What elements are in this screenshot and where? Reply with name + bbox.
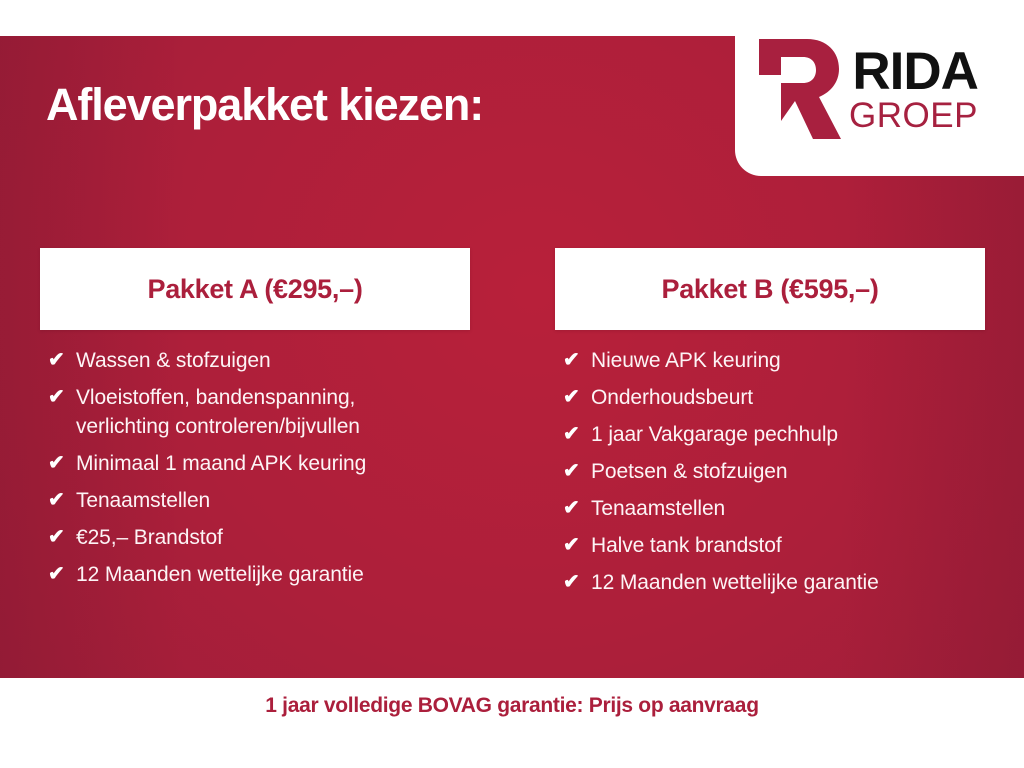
list-item: ✔ Wassen & stofzuigen: [46, 346, 470, 375]
check-icon: ✔: [46, 383, 76, 412]
list-item-label: 1 jaar Vakgarage pechhulp: [591, 420, 838, 449]
check-icon: ✔: [561, 420, 591, 449]
list-item: ✔ Minimaal 1 maand APK keuring: [46, 449, 470, 478]
package-b-feature-list: ✔ Nieuwe APK keuring ✔ Onderhoudsbeurt ✔…: [555, 330, 985, 597]
check-icon: ✔: [561, 531, 591, 560]
check-icon: ✔: [46, 560, 76, 589]
brand-logo-panel: RIDA GROEP: [735, 0, 1024, 176]
footer-banner: 1 jaar volledige BOVAG garantie: Prijs o…: [0, 678, 1024, 768]
list-item-label: Onderhoudsbeurt: [591, 383, 753, 412]
package-a-feature-list: ✔ Wassen & stofzuigen ✔ Vloeistoffen, ba…: [40, 330, 470, 589]
list-item: ✔ Vloeistoffen, bandenspanning, verlicht…: [46, 383, 470, 441]
package-card-a[interactable]: Pakket A (€295,–) ✔ Wassen & stofzuigen …: [40, 248, 470, 605]
package-card-b[interactable]: Pakket B (€595,–) ✔ Nieuwe APK keuring ✔…: [555, 248, 985, 605]
brand-name-secondary: GROEP: [849, 100, 978, 132]
list-item: ✔ Poetsen & stofzuigen: [561, 457, 985, 486]
check-icon: ✔: [561, 457, 591, 486]
list-item: ✔ Tenaamstellen: [46, 486, 470, 515]
list-item-label: Tenaamstellen: [76, 486, 210, 515]
check-icon: ✔: [46, 523, 76, 552]
check-icon: ✔: [561, 383, 591, 412]
list-item: ✔ 1 jaar Vakgarage pechhulp: [561, 420, 985, 449]
check-icon: ✔: [46, 449, 76, 478]
brand-wordmark: RIDA GROEP: [849, 48, 978, 132]
package-b-title: Pakket B (€595,–): [661, 274, 878, 305]
list-item-label: Tenaamstellen: [591, 494, 725, 523]
check-icon: ✔: [46, 346, 76, 375]
list-item: ✔ Halve tank brandstof: [561, 531, 985, 560]
list-item-label: Minimaal 1 maand APK keuring: [76, 449, 366, 478]
list-item-label-line: Vloeistoffen, bandenspanning,: [76, 383, 360, 412]
check-icon: ✔: [561, 346, 591, 375]
package-b-header: Pakket B (€595,–): [555, 248, 985, 330]
rida-r-monogram-icon: [751, 35, 843, 143]
package-a-header: Pakket A (€295,–): [40, 248, 470, 330]
page-title: Afleverpakket kiezen:: [46, 79, 483, 131]
packages-container: Pakket A (€295,–) ✔ Wassen & stofzuigen …: [0, 248, 1024, 605]
list-item-label: €25,– Brandstof: [76, 523, 223, 552]
list-item-label: Halve tank brandstof: [591, 531, 782, 560]
check-icon: ✔: [561, 568, 591, 597]
list-item-label: Vloeistoffen, bandenspanning, verlichtin…: [76, 383, 360, 441]
list-item-label: 12 Maanden wettelijke garantie: [76, 560, 364, 589]
list-item-label-line: verlichting controleren/bijvullen: [76, 412, 360, 441]
list-item-label: Poetsen & stofzuigen: [591, 457, 787, 486]
list-item: ✔ 12 Maanden wettelijke garantie: [561, 568, 985, 597]
check-icon: ✔: [46, 486, 76, 515]
list-item: ✔ €25,– Brandstof: [46, 523, 470, 552]
list-item: ✔ 12 Maanden wettelijke garantie: [46, 560, 470, 589]
promo-slide: RIDA GROEP Afleverpakket kiezen: Pakket …: [0, 0, 1024, 768]
list-item: ✔ Tenaamstellen: [561, 494, 985, 523]
list-item: ✔ Nieuwe APK keuring: [561, 346, 985, 375]
list-item: ✔ Onderhoudsbeurt: [561, 383, 985, 412]
list-item-label: Nieuwe APK keuring: [591, 346, 781, 375]
footer-text: 1 jaar volledige BOVAG garantie: Prijs o…: [265, 694, 758, 718]
list-item-label: Wassen & stofzuigen: [76, 346, 271, 375]
check-icon: ✔: [561, 494, 591, 523]
package-a-title: Pakket A (€295,–): [147, 274, 362, 305]
list-item-label: 12 Maanden wettelijke garantie: [591, 568, 879, 597]
brand-name-primary: RIDA: [852, 48, 978, 97]
